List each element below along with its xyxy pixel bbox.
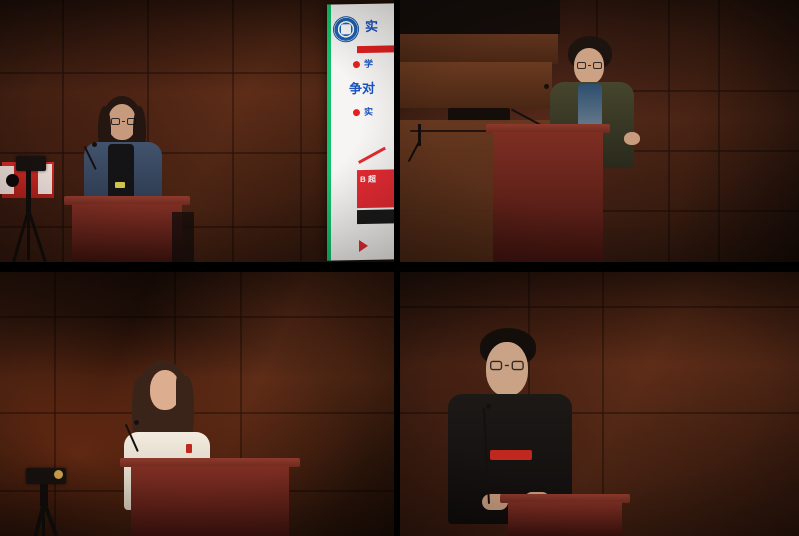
bullet-text: 实 bbox=[364, 108, 373, 117]
badge bbox=[186, 444, 192, 453]
glasses bbox=[490, 361, 524, 370]
photo-bottom-left[interactable]: 上学期：修尽相 查阅大 规划实 下学期：开展预 熟悉实 对正式 bbox=[0, 272, 394, 536]
slide-bullet-2: 实 bbox=[353, 108, 373, 117]
glasses bbox=[111, 118, 136, 125]
desk-dark-panel bbox=[400, 0, 560, 34]
slide-callout-box: B 超 bbox=[357, 169, 394, 208]
photo-collage: 实 学 争对 实 B 超 bbox=[0, 0, 799, 536]
scene-bottom-right: 发展机遇 我们能做什么 bbox=[400, 272, 799, 536]
microphone-head bbox=[486, 404, 491, 409]
podium-shadow bbox=[172, 212, 194, 262]
slide-title: 实 bbox=[365, 20, 378, 33]
hand bbox=[624, 132, 640, 145]
inner-shirt bbox=[108, 144, 134, 200]
tripod-stand bbox=[406, 124, 442, 164]
slide-red-slash bbox=[358, 147, 386, 164]
photo-top-left[interactable]: 实 学 争对 实 B 超 bbox=[0, 0, 394, 262]
bullet-dot-icon bbox=[353, 61, 360, 68]
slide-red-rule bbox=[357, 45, 394, 53]
photo-top-right[interactable]: ❯ ❯ ❯ bbox=[400, 0, 799, 262]
scene-top-left: 实 学 争对 实 B 超 bbox=[0, 0, 394, 262]
university-logo-icon bbox=[333, 16, 359, 42]
podium bbox=[486, 124, 610, 262]
side-desk bbox=[400, 32, 558, 64]
slide-bullet-1: 学 bbox=[353, 60, 373, 69]
slide-black-bar bbox=[357, 209, 394, 224]
photo-bottom-right[interactable]: 发展机遇 我们能做什么 bbox=[400, 272, 799, 536]
microphone-head bbox=[544, 84, 549, 89]
microphone-head bbox=[134, 420, 139, 425]
podium bbox=[120, 458, 300, 536]
tripod-camera bbox=[14, 458, 94, 536]
name-badge bbox=[490, 450, 532, 460]
slide-emphasis-text: 争对 bbox=[349, 82, 375, 95]
slide-callout-text: B 超 bbox=[357, 169, 394, 189]
badge bbox=[115, 182, 125, 188]
podium bbox=[500, 494, 630, 536]
microphone-head bbox=[92, 142, 97, 147]
screen-green-edge bbox=[327, 5, 331, 261]
scene-bottom-left: 上学期：修尽相 查阅大 规划实 下学期：开展预 熟悉实 对正式 bbox=[0, 272, 394, 536]
glasses bbox=[577, 62, 602, 69]
bullet-dot-icon bbox=[353, 109, 360, 116]
bullet-text: 学 bbox=[364, 60, 373, 69]
desk-surface bbox=[400, 62, 552, 108]
projection-screen: 实 学 争对 实 B 超 bbox=[327, 3, 394, 260]
scene-top-right: ❯ ❯ ❯ bbox=[400, 0, 799, 262]
slide-red-arrow-icon bbox=[359, 240, 368, 252]
